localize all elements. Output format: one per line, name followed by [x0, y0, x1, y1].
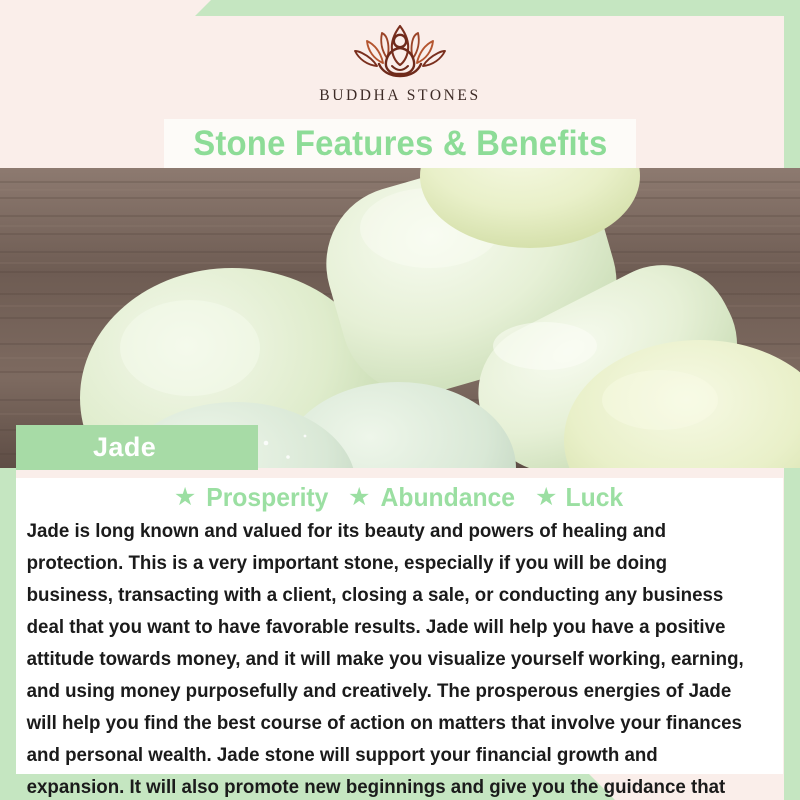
benefit-item: ★ Luck — [535, 482, 625, 513]
star-icon: ★ — [535, 485, 557, 510]
stone-name-tag: Jade — [16, 425, 258, 470]
benefits-list: ★ Prosperity ★ Abundance ★ Luck — [16, 478, 783, 514]
content-panel: ★ Prosperity ★ Abundance ★ Luck Jade is … — [16, 478, 783, 774]
decor-top-green-band — [195, 0, 800, 16]
jade-stones-photo — [0, 168, 800, 468]
benefit-item: ★ Abundance — [348, 482, 519, 513]
hero-image — [0, 168, 800, 468]
benefit-label: Abundance — [381, 482, 515, 513]
page-title: Stone Features & Benefits — [193, 124, 607, 164]
benefit-label: Prosperity — [207, 482, 329, 513]
stone-info-card: BUDDHA STONES Stone Features & Benefits — [0, 0, 800, 800]
brand-name: BUDDHA STONES — [319, 87, 480, 105]
lotus-meditation-icon — [334, 18, 466, 84]
star-icon: ★ — [348, 485, 370, 510]
stone-description: Jade is long known and valued for its be… — [16, 514, 756, 800]
benefit-label: Luck — [566, 482, 624, 513]
stone-name: Jade — [93, 432, 156, 463]
benefit-item: ★ Prosperity — [174, 482, 332, 513]
star-icon: ★ — [174, 485, 196, 510]
brand-logo: BUDDHA STONES — [0, 18, 800, 113]
section-title-banner: Stone Features & Benefits — [164, 119, 636, 168]
